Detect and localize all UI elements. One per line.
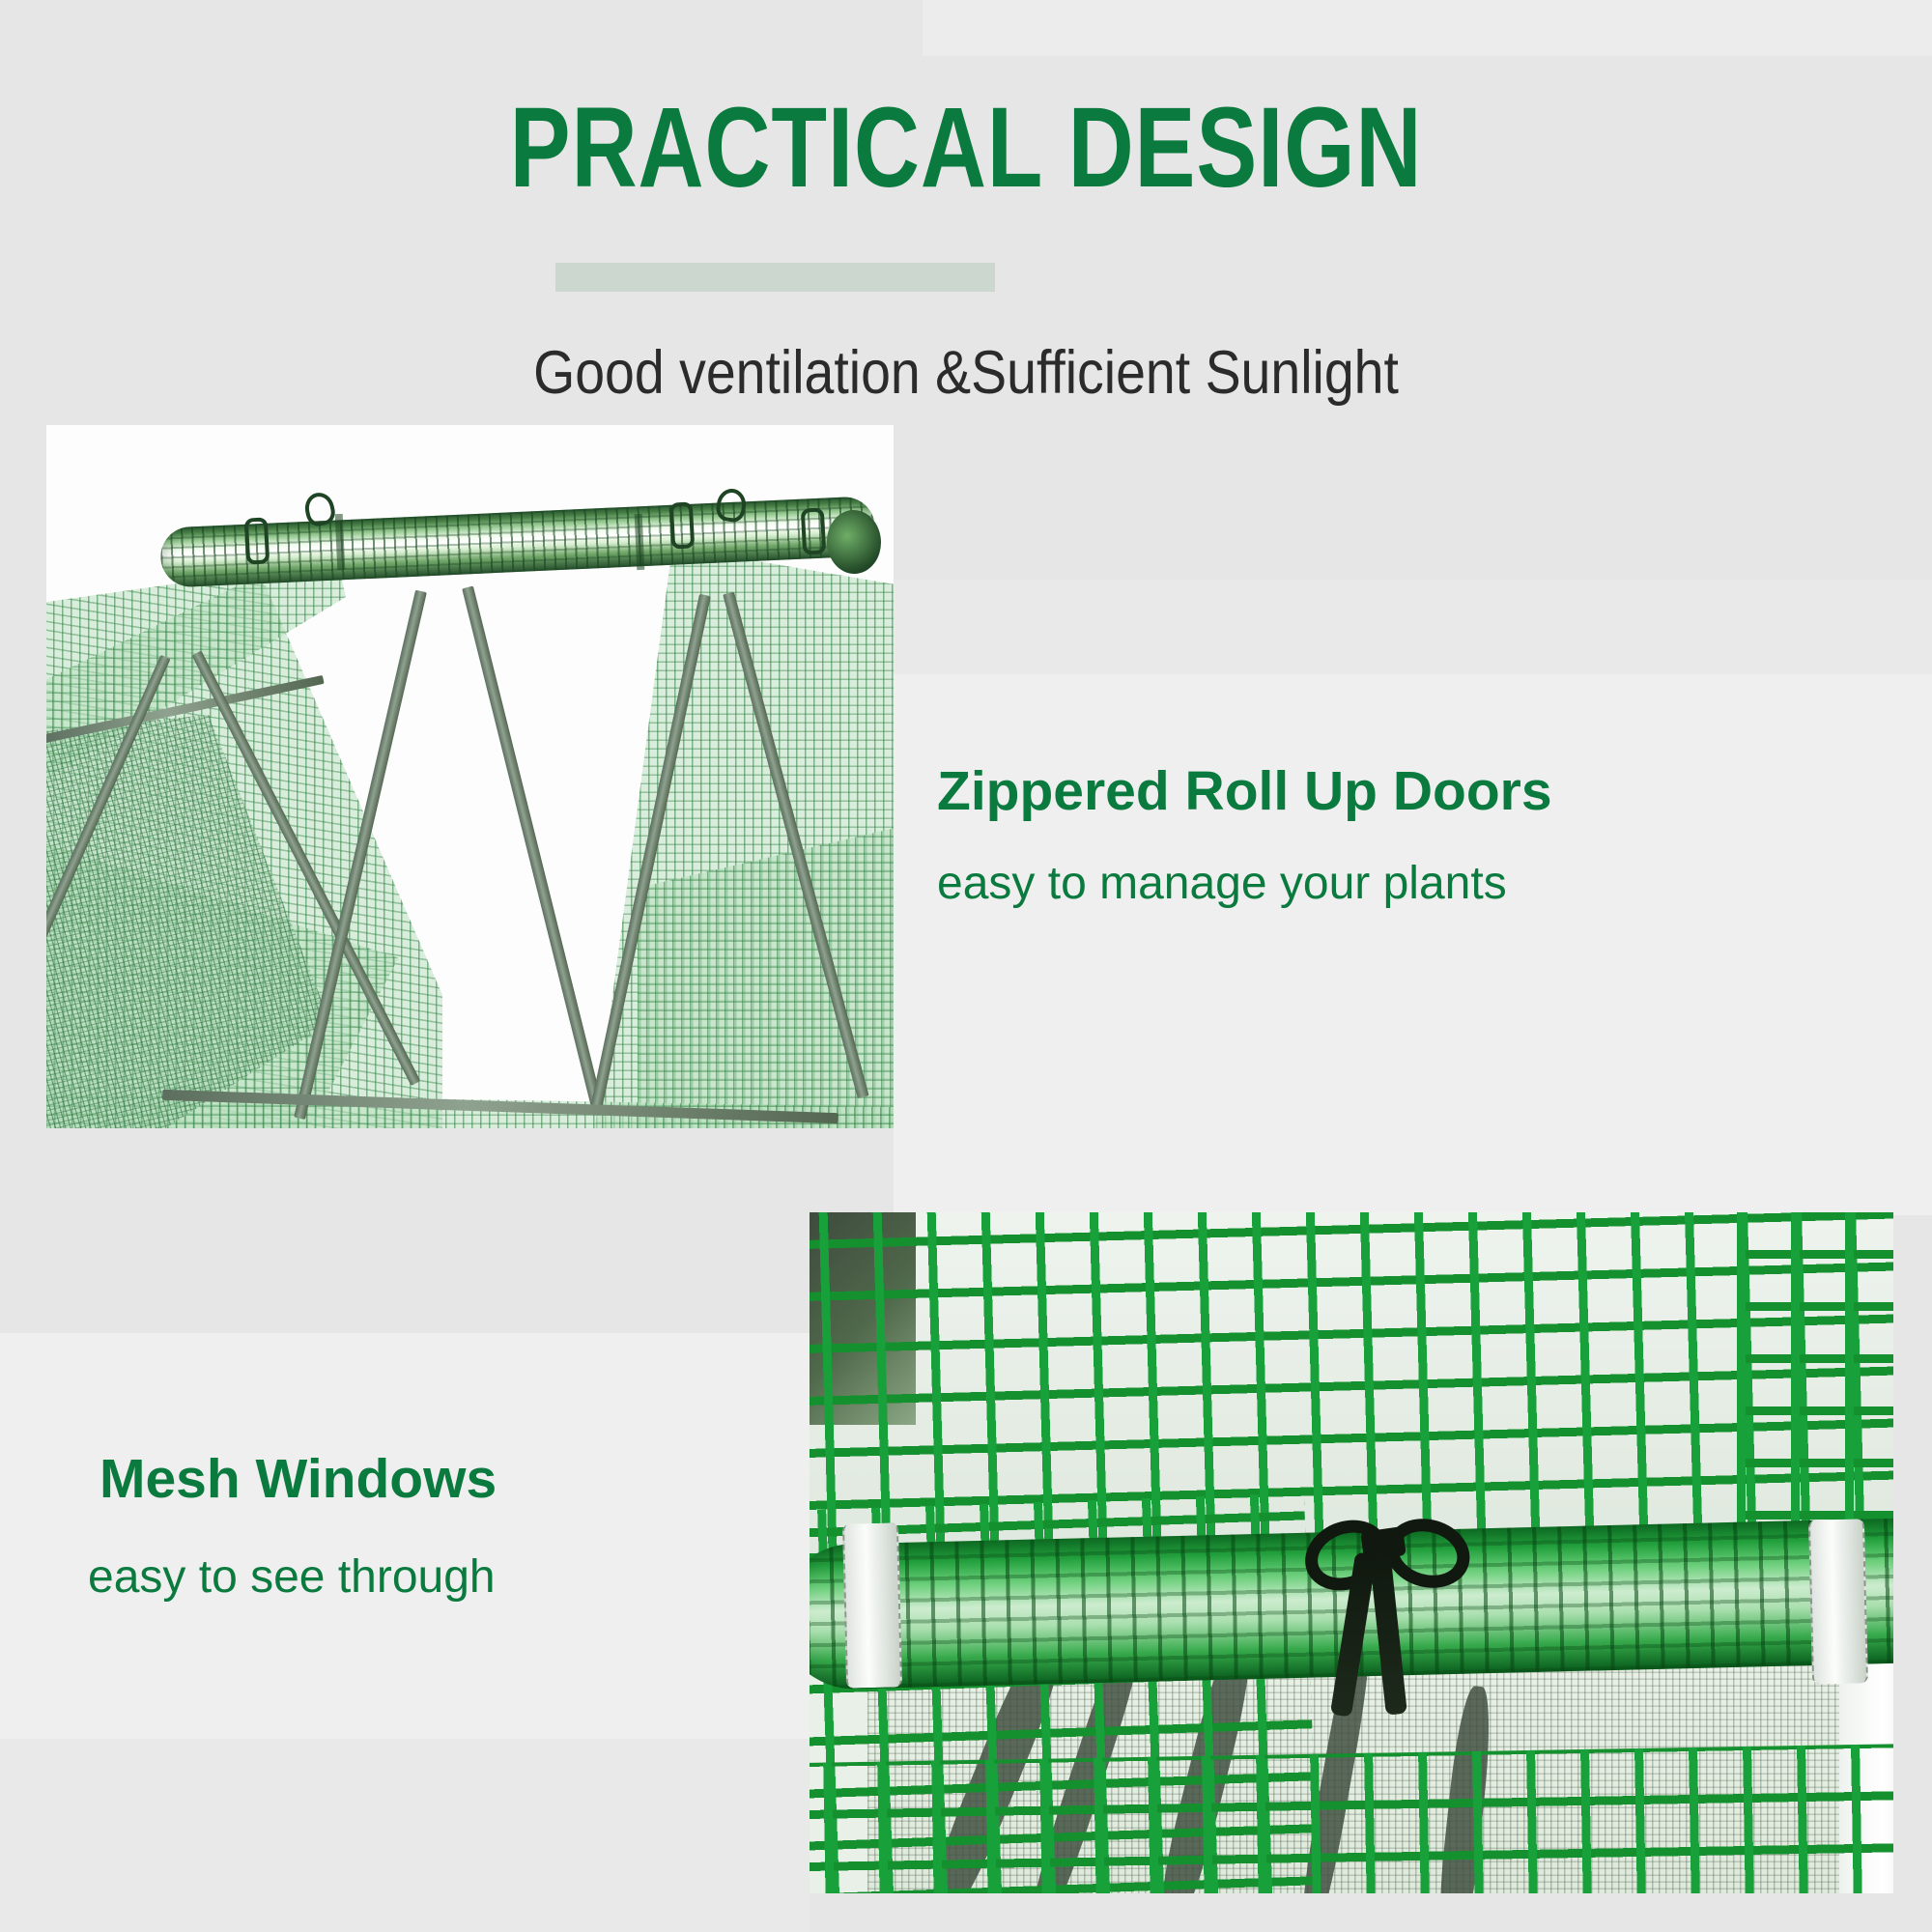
velcro-strap-right <box>1808 1519 1868 1684</box>
page-subtitle: Good ventilation &Sufficient Sunlight <box>116 340 1816 407</box>
mesh-window-photo <box>810 1212 1893 1893</box>
title-divider <box>555 263 995 292</box>
feature-subheading-mesh: easy to see through <box>88 1552 497 1604</box>
background-band-mid-right <box>894 580 1932 674</box>
feature-callout-mesh: Mesh Windows easy to see through <box>99 1449 497 1603</box>
background-band-bottom <box>0 1739 810 1932</box>
door-clip-ring-1 <box>244 517 270 564</box>
background-band-top-right <box>923 0 1932 56</box>
feature-heading-mesh: Mesh Windows <box>99 1449 497 1510</box>
door-clip-ring-2 <box>669 501 695 549</box>
ribbon-bow-knot <box>1360 1526 1406 1561</box>
feature-heading-doors: Zippered Roll Up Doors <box>937 761 1552 822</box>
feature-callout-doors: Zippered Roll Up Doors easy to manage yo… <box>937 761 1552 909</box>
roll-up-door-photo <box>46 425 894 1128</box>
velcro-strap-left <box>842 1522 902 1688</box>
door-clip-ring-3 <box>801 507 826 554</box>
mesh-grid-lower <box>810 1743 1893 1893</box>
page-title: PRACTICAL DESIGN <box>193 89 1739 209</box>
feature-subheading-doors: easy to manage your plants <box>937 859 1552 910</box>
background-band-lower-right <box>894 674 1932 1215</box>
